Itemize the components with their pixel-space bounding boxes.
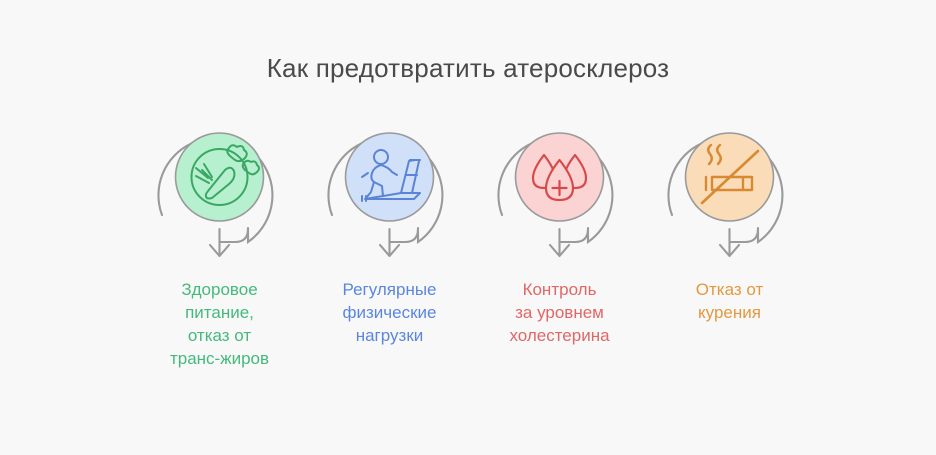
step-physical-activity: Регулярные физические нагрузки [302, 120, 477, 347]
step-label-quit-smoking: Отказ от курения [642, 278, 817, 324]
badge-graphic-quit-smoking [642, 120, 817, 270]
step-cholesterol-control: Контроль за уровнем холестерина [472, 120, 647, 347]
badge-physical-activity [302, 120, 477, 270]
step-label-healthy-diet: Здоровое питание, отказ от транс-жиров [132, 278, 307, 370]
arrow-curve-icon [220, 229, 249, 242]
step-quit-smoking: Отказ от курения [642, 120, 817, 324]
badge-quit-smoking [642, 120, 817, 270]
step-label-cholesterol-control: Контроль за уровнем холестерина [472, 278, 647, 347]
arrow-curve-icon [730, 229, 759, 242]
icon-circle-background [346, 133, 434, 221]
step-label-physical-activity: Регулярные физические нагрузки [302, 278, 477, 347]
arrow-curve-icon [390, 229, 419, 242]
badge-graphic-healthy-diet [132, 120, 307, 270]
badge-cholesterol-control [472, 120, 647, 270]
infographic-canvas: Как предотвратить атеросклероз Здоровое … [0, 0, 936, 455]
badge-graphic-physical-activity [302, 120, 477, 270]
badge-graphic-cholesterol-control [472, 120, 647, 270]
badge-healthy-diet [132, 120, 307, 270]
arrow-curve-icon [560, 229, 589, 242]
step-healthy-diet: Здоровое питание, отказ от транс-жиров [132, 120, 307, 370]
page-title: Как предотвратить атеросклероз [0, 53, 936, 84]
